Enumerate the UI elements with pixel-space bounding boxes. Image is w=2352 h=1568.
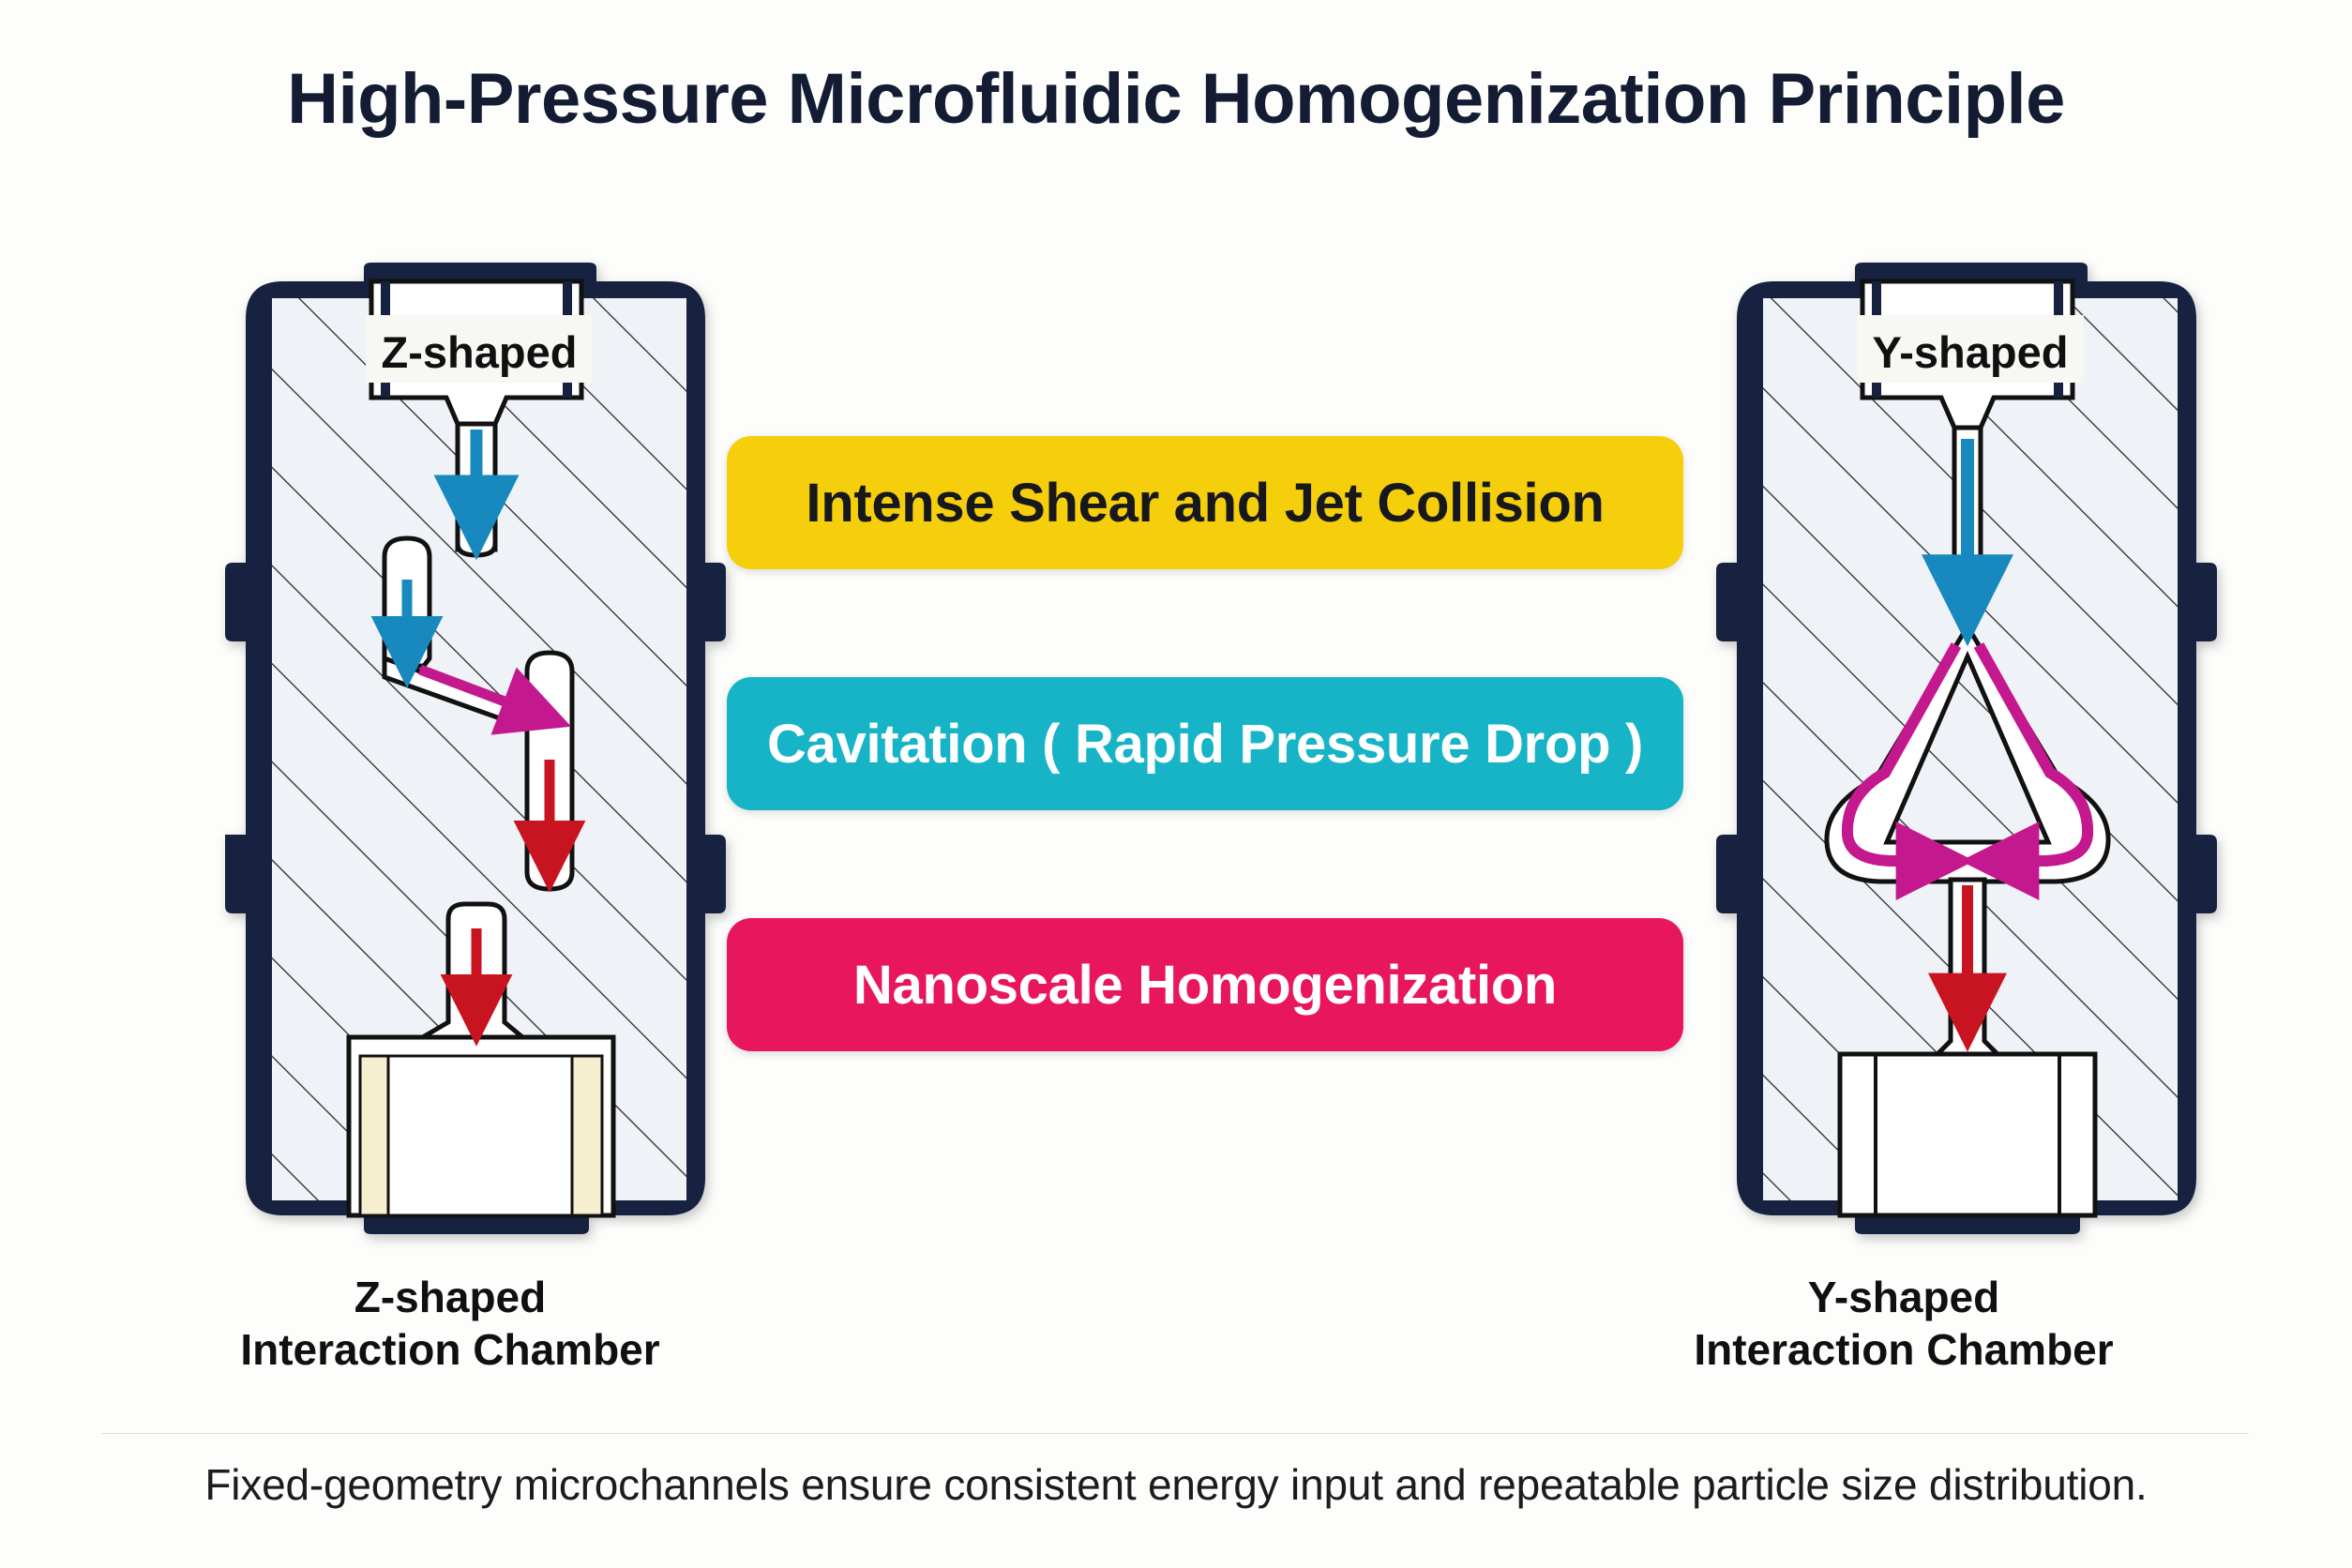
y-loop-cavity <box>1827 626 2108 882</box>
y-chamber-caption: Y-shaped Interaction Chamber <box>1557 1271 2251 1376</box>
banner-nanoscale-label: Nanoscale Homogenization <box>853 954 1557 1017</box>
z-second-vertical-channel <box>527 653 572 889</box>
z-inlet-nozzle <box>458 424 495 555</box>
z-diagonal-shear-channel <box>384 658 563 741</box>
y-shaped-chamber: Y-shaped <box>1716 263 2217 1234</box>
banner-intense-shear-label: Intense Shear and Jet Collision <box>806 472 1604 535</box>
banner-nanoscale[interactable]: Nanoscale Homogenization <box>727 918 1683 1051</box>
y-chamber-hatch-fill <box>1763 298 2178 1200</box>
diagram-canvas: High-Pressure Microfluidic Homogenizatio… <box>0 0 2352 1568</box>
y-chamber-body <box>1716 263 2217 1234</box>
y-arrow-right-magenta <box>1979 645 2088 861</box>
z-arrow-shear-magenta <box>420 670 535 713</box>
banner-cavitation[interactable]: Cavitation ( Rapid Pressure Drop ) <box>727 677 1683 810</box>
y-collection-chamber <box>1840 1054 2095 1215</box>
z-shaped-chamber: Z-shaped <box>225 263 726 1234</box>
y-caption-line1: Y-shaped <box>1808 1273 2000 1321</box>
z-seal-left <box>360 1056 390 1215</box>
z-inline-label: Z-shaped <box>382 327 578 377</box>
z-seal-right <box>572 1056 602 1215</box>
y-caption-line2: Interaction Chamber <box>1557 1323 2251 1376</box>
z-outlet-nozzle <box>416 904 527 1041</box>
footer-divider <box>101 1433 2249 1434</box>
z-descending-channel <box>384 538 430 666</box>
y-inlet-manifold <box>1862 281 2073 441</box>
banner-cavitation-label: Cavitation ( Rapid Pressure Drop ) <box>767 713 1643 776</box>
z-inlet-manifold <box>371 281 581 550</box>
y-inline-label: Y-shaped <box>1873 327 2069 377</box>
z-chamber-body <box>225 263 726 1234</box>
footer-note: Fixed-geometry microchannels ensure cons… <box>0 1459 2352 1510</box>
y-outlet-channel <box>1934 880 2001 1058</box>
y-jet-channel <box>1954 428 1981 634</box>
banner-intense-shear[interactable]: Intense Shear and Jet Collision <box>727 436 1683 569</box>
z-chamber-caption: Z-shaped Interaction Chamber <box>103 1271 797 1376</box>
y-arrow-left-magenta <box>1847 645 1956 861</box>
z-collection-chamber <box>349 1037 613 1215</box>
z-caption-line1: Z-shaped <box>354 1273 546 1321</box>
page-title: High-Pressure Microfluidic Homogenizatio… <box>0 58 2352 140</box>
z-caption-line2: Interaction Chamber <box>103 1323 797 1376</box>
z-chamber-hatch-fill <box>272 298 686 1200</box>
y-triangular-island <box>1887 656 2048 842</box>
